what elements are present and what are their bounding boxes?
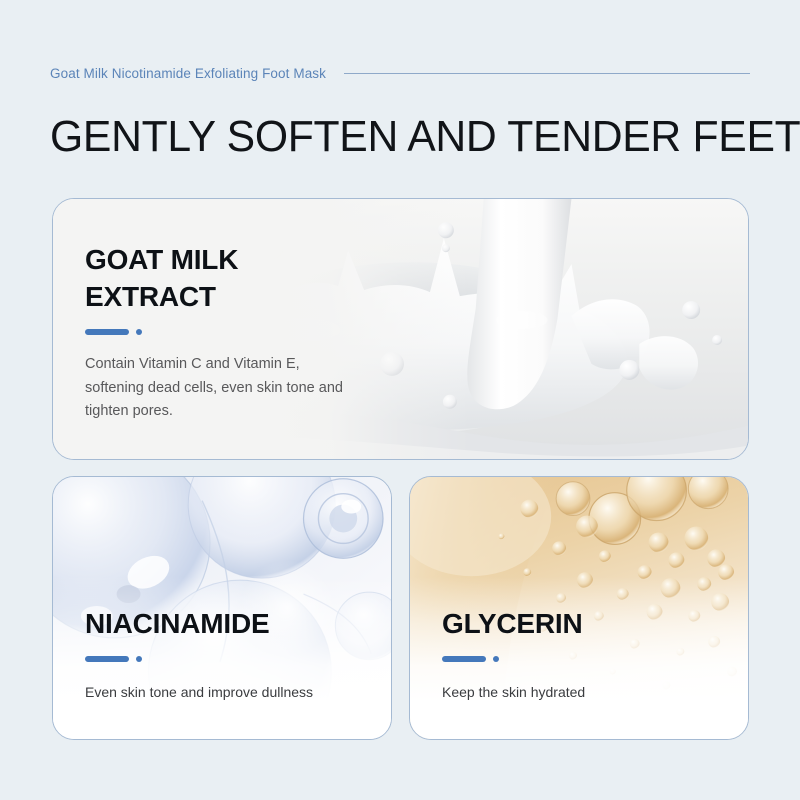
- accent-dot: [136, 656, 142, 662]
- accent-bar: [85, 656, 129, 662]
- niacinamide-card-content: NIACINAMIDE Even skin tone and improve d…: [85, 605, 313, 704]
- feature-card-glycerin: GLYCERIN Keep the skin hydrated: [409, 476, 749, 740]
- header-eyebrow-text: Goat Milk Nicotinamide Exfoliating Foot …: [50, 66, 326, 81]
- card-description-goat-milk-extract: Contain Vitamin C and Vitamin E, softeni…: [85, 353, 355, 423]
- card-title-niacinamide: NIACINAMIDE: [85, 605, 313, 642]
- card-title-glycerin: GLYCERIN: [442, 605, 585, 642]
- accent-bar: [85, 329, 129, 335]
- page-header: Goat Milk Nicotinamide Exfoliating Foot …: [50, 60, 750, 86]
- card-description-niacinamide: Even skin tone and improve dullness: [85, 681, 313, 704]
- card-title-goat-milk-extract: GOAT MILK EXTRACT: [85, 241, 345, 315]
- hero-card-content: GOAT MILK EXTRACT Contain Vitamin C and …: [85, 241, 355, 424]
- accent-divider: [85, 329, 355, 335]
- accent-divider: [442, 656, 585, 662]
- feature-card-goat-milk-extract: GOAT MILK EXTRACT Contain Vitamin C and …: [52, 198, 749, 460]
- page-title: GENTLY SOFTEN AND TENDER FEET: [50, 112, 800, 162]
- header-divider-rule: [344, 73, 750, 74]
- accent-bar: [442, 656, 486, 662]
- card-description-glycerin: Keep the skin hydrated: [442, 681, 585, 704]
- feature-card-niacinamide: NIACINAMIDE Even skin tone and improve d…: [52, 476, 392, 740]
- glycerin-card-content: GLYCERIN Keep the skin hydrated: [442, 605, 585, 704]
- accent-dot: [493, 656, 499, 662]
- accent-divider: [85, 656, 313, 662]
- accent-dot: [136, 329, 142, 335]
